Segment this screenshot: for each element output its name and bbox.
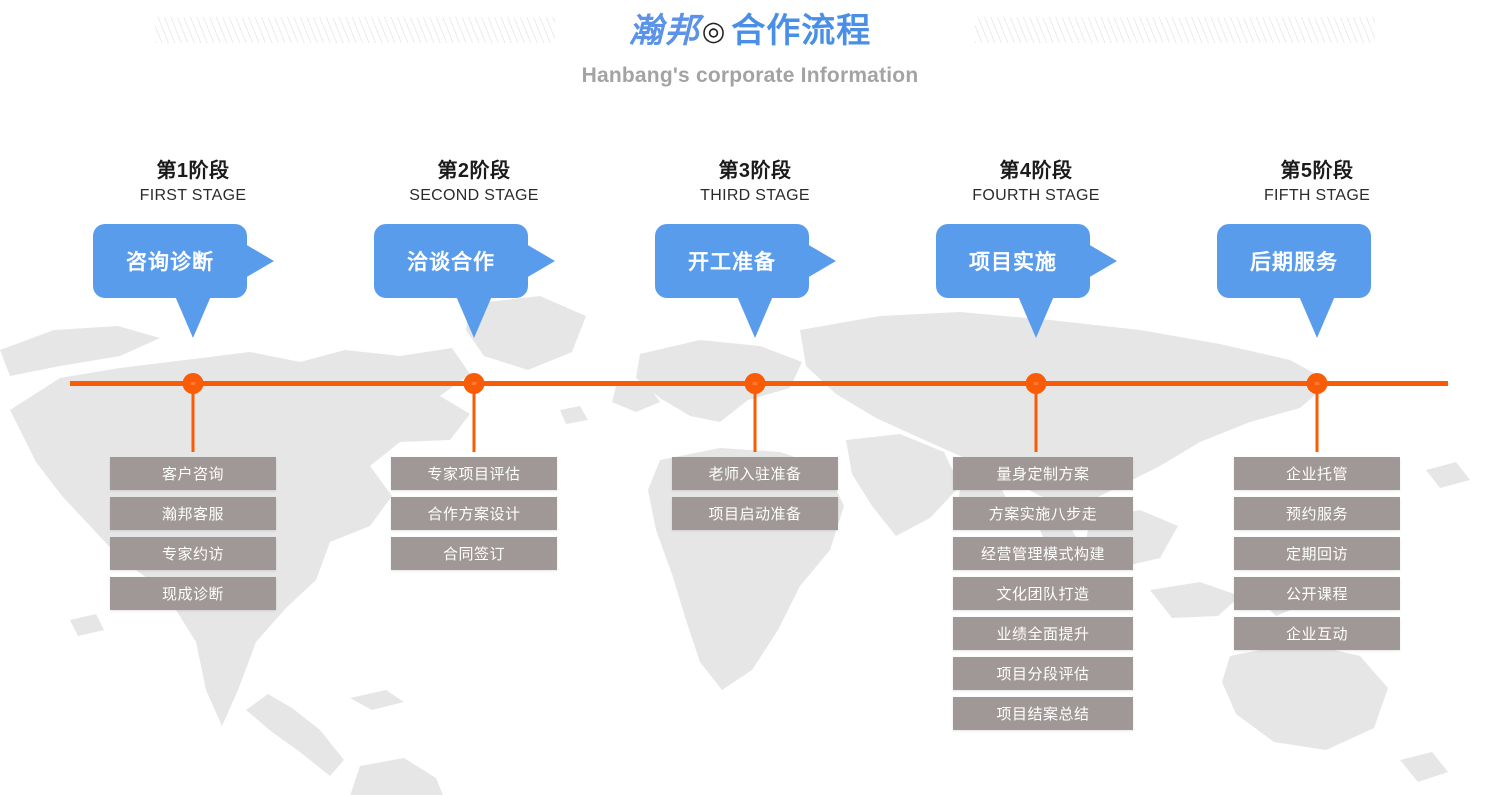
stage-number-label-2: 第2阶段 xyxy=(349,158,599,184)
stage-item-list-1: 客户咨询 瀚邦客服 专家约访 现成诊断 xyxy=(110,457,276,617)
stage-number-label-3: 第3阶段 xyxy=(630,158,880,184)
stage-number-label-5: 第5阶段 xyxy=(1192,158,1442,184)
page-title: 瀚邦◎合作流程 xyxy=(0,8,1500,56)
stage-item-list-5: 企业托管 预约服务 定期回访 公开课程 企业互动 xyxy=(1234,457,1400,657)
infographic-canvas: 瀚邦◎合作流程 Hanbang's corporate Information … xyxy=(0,0,1500,795)
stage-en-label-1: FIRST STAGE xyxy=(68,184,318,208)
stage-column-4: 第4阶段 FOURTH STAGE 项目实施 xyxy=(911,158,1161,344)
timeline-connector-2 xyxy=(473,386,476,452)
stage-bubble-area-3: 开工准备 xyxy=(630,224,880,344)
stage-bubble-5[interactable]: 后期服务 xyxy=(1217,224,1371,298)
stage-heading-2: 第2阶段 SECOND STAGE xyxy=(349,158,599,208)
list-item[interactable]: 项目分段评估 xyxy=(953,657,1133,690)
stage-en-label-4: FOURTH STAGE xyxy=(911,184,1161,208)
list-item[interactable]: 预约服务 xyxy=(1234,497,1400,530)
list-item[interactable]: 项目结案总结 xyxy=(953,697,1133,730)
list-item[interactable]: 瀚邦客服 xyxy=(110,497,276,530)
list-item[interactable]: 公开课程 xyxy=(1234,577,1400,610)
stage-bubble-label-4: 项目实施 xyxy=(969,246,1057,276)
list-item[interactable]: 合同签订 xyxy=(391,537,557,570)
stage-bubble-area-4: 项目实施 xyxy=(911,224,1161,344)
stage-item-list-3: 老师入驻准备 项目启动准备 xyxy=(672,457,838,537)
list-item[interactable]: 专家项目评估 xyxy=(391,457,557,490)
stage-bubble-label-3: 开工准备 xyxy=(688,246,776,276)
list-item[interactable]: 专家约访 xyxy=(110,537,276,570)
list-item[interactable]: 文化团队打造 xyxy=(953,577,1133,610)
stage-bubble-1[interactable]: 咨询诊断 xyxy=(93,224,247,298)
bubble-tail-icon-5 xyxy=(1299,296,1335,338)
stage-bubble-2[interactable]: 洽谈合作 xyxy=(374,224,528,298)
stage-heading-4: 第4阶段 FOURTH STAGE xyxy=(911,158,1161,208)
stage-column-3: 第3阶段 THIRD STAGE 开工准备 xyxy=(630,158,880,344)
stage-en-label-3: THIRD STAGE xyxy=(630,184,880,208)
stage-column-1: 第1阶段 FIRST STAGE 咨询诊断 xyxy=(68,158,318,344)
stage-number-label-1: 第1阶段 xyxy=(68,158,318,184)
stage-item-list-4: 量身定制方案 方案实施八步走 经营管理模式构建 文化团队打造 业绩全面提升 项目… xyxy=(953,457,1133,737)
timeline-connector-3 xyxy=(754,386,757,452)
bubble-tail-icon-1 xyxy=(175,296,211,338)
bubble-tail-icon-3 xyxy=(737,296,773,338)
list-item[interactable]: 定期回访 xyxy=(1234,537,1400,570)
bubble-arrow-icon-1 xyxy=(245,244,274,278)
stage-item-list-2: 专家项目评估 合作方案设计 合同签订 xyxy=(391,457,557,577)
list-item[interactable]: 客户咨询 xyxy=(110,457,276,490)
timeline-connector-1 xyxy=(192,386,195,452)
stage-bubble-area-5: 后期服务 xyxy=(1192,224,1442,344)
list-item[interactable]: 经营管理模式构建 xyxy=(953,537,1133,570)
stage-bubble-4[interactable]: 项目实施 xyxy=(936,224,1090,298)
bubble-tail-icon-2 xyxy=(456,296,492,338)
stage-bubble-3[interactable]: 开工准备 xyxy=(655,224,809,298)
list-item[interactable]: 现成诊断 xyxy=(110,577,276,610)
timeline-connector-5 xyxy=(1316,386,1319,452)
bubble-arrow-icon-2 xyxy=(526,244,555,278)
title-main-text: 合作流程 xyxy=(731,12,871,50)
list-item[interactable]: 企业互动 xyxy=(1234,617,1400,650)
stage-bubble-area-1: 咨询诊断 xyxy=(68,224,318,344)
bubble-tail-icon-4 xyxy=(1018,296,1054,338)
stage-number-label-4: 第4阶段 xyxy=(911,158,1161,184)
list-item[interactable]: 量身定制方案 xyxy=(953,457,1133,490)
list-item[interactable]: 方案实施八步走 xyxy=(953,497,1133,530)
stage-column-2: 第2阶段 SECOND STAGE 洽谈合作 xyxy=(349,158,599,344)
list-item[interactable]: 业绩全面提升 xyxy=(953,617,1133,650)
timeline-connector-4 xyxy=(1035,386,1038,452)
stage-bubble-label-2: 洽谈合作 xyxy=(407,246,495,276)
brand-name: 瀚邦 xyxy=(629,11,701,51)
stage-en-label-2: SECOND STAGE xyxy=(349,184,599,208)
title-block: 瀚邦◎合作流程 Hanbang's corporate Information xyxy=(0,8,1500,88)
stage-heading-5: 第5阶段 FIFTH STAGE xyxy=(1192,158,1442,208)
stage-heading-1: 第1阶段 FIRST STAGE xyxy=(68,158,318,208)
list-item[interactable]: 企业托管 xyxy=(1234,457,1400,490)
page-subtitle: Hanbang's corporate Information xyxy=(0,64,1500,88)
stage-bubble-area-2: 洽谈合作 xyxy=(349,224,599,344)
list-item[interactable]: 老师入驻准备 xyxy=(672,457,838,490)
bubble-arrow-icon-3 xyxy=(807,244,836,278)
stage-column-5: 第5阶段 FIFTH STAGE 后期服务 xyxy=(1192,158,1442,344)
stage-heading-3: 第3阶段 THIRD STAGE xyxy=(630,158,880,208)
page-header: 瀚邦◎合作流程 Hanbang's corporate Information xyxy=(0,0,1500,110)
stage-bubble-label-5: 后期服务 xyxy=(1250,246,1338,276)
bubble-arrow-icon-4 xyxy=(1088,244,1117,278)
list-item[interactable]: 合作方案设计 xyxy=(391,497,557,530)
stage-bubble-label-1: 咨询诊断 xyxy=(126,246,214,276)
list-item[interactable]: 项目启动准备 xyxy=(672,497,838,530)
logo-mark-icon: ◎ xyxy=(702,16,726,46)
stage-en-label-5: FIFTH STAGE xyxy=(1192,184,1442,208)
